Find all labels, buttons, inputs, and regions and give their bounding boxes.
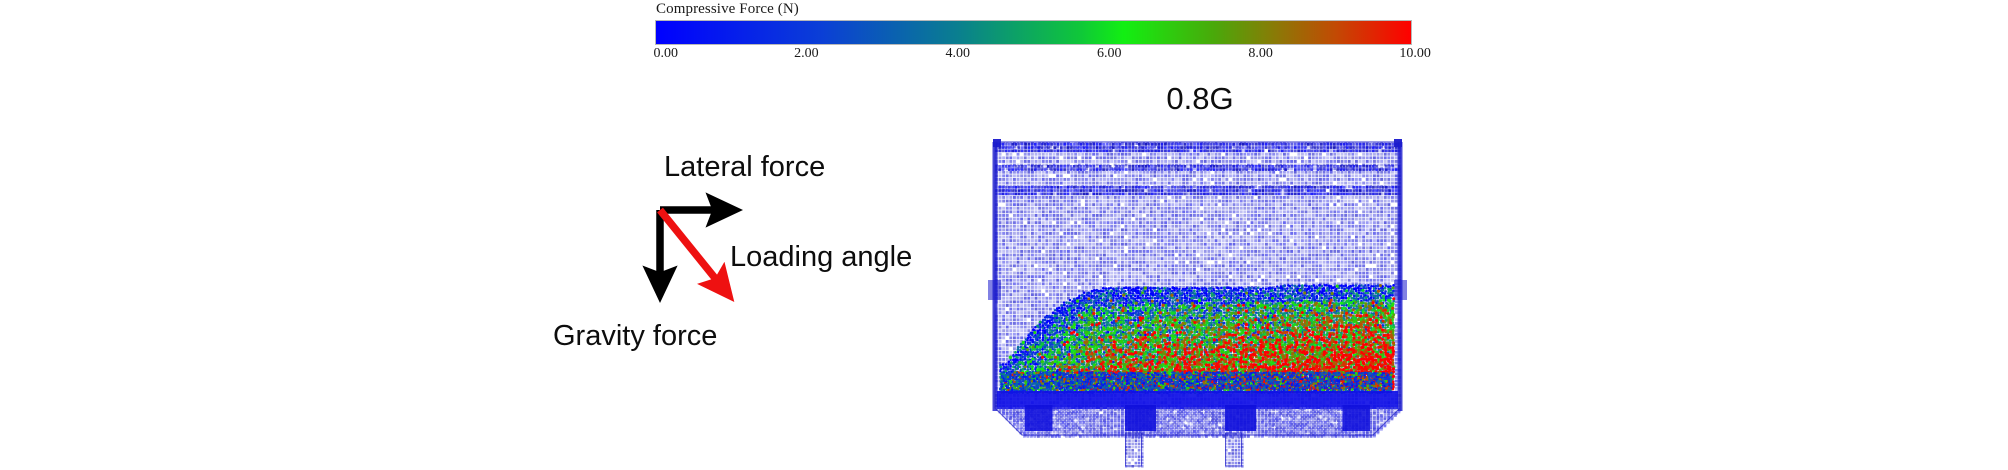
colorbar-title: Compressive Force (N) <box>656 2 1415 17</box>
force-diagram: Lateral force Loading angle Gravity forc… <box>520 140 990 370</box>
case-title: 0.8G <box>1100 83 1300 114</box>
dem-particle-canvas <box>975 115 1425 470</box>
loading-angle-label: Loading angle <box>730 243 912 272</box>
colorbar-tick-labels: 0.002.004.006.008.0010.00 <box>655 46 1412 64</box>
gravity-force-label: Gravity force <box>553 322 717 351</box>
colorbar-tick: 8.00 <box>1248 46 1273 62</box>
colorbar-tick: 2.00 <box>794 46 819 62</box>
lateral-force-label: Lateral force <box>664 153 825 182</box>
dem-simulation-view <box>975 115 1425 470</box>
colorbar-legend: Compressive Force (N) 0.002.004.006.008.… <box>655 2 1415 64</box>
loading-angle-arrow <box>660 210 723 288</box>
colorbar-tick: 4.00 <box>946 46 971 62</box>
colorbar-tick: 10.00 <box>1399 46 1431 62</box>
colorbar-tick: 6.00 <box>1097 46 1122 62</box>
colorbar-tick: 0.00 <box>654 46 679 62</box>
colorbar-gradient <box>655 20 1412 45</box>
